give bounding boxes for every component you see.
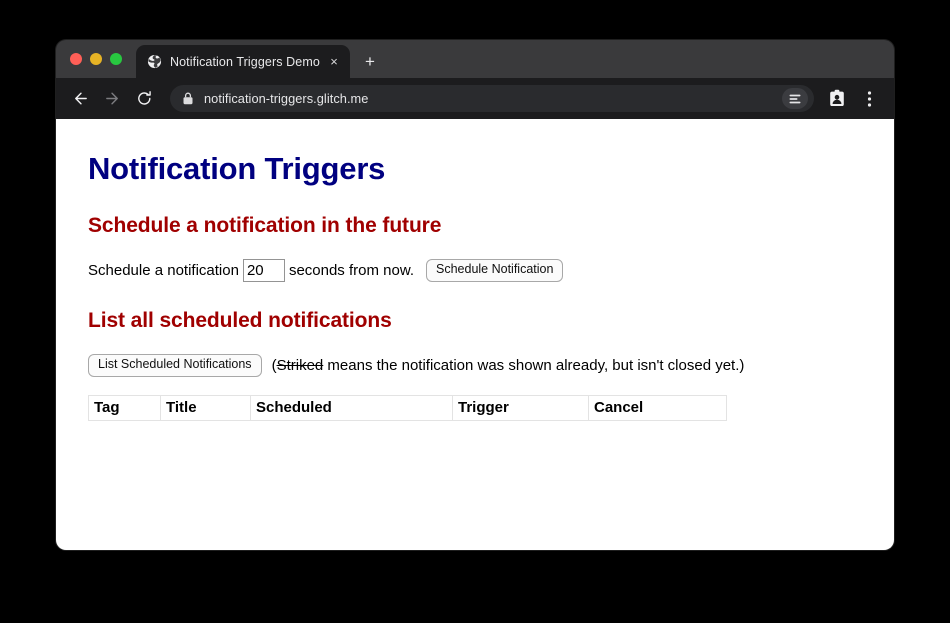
column-header-title: Title (161, 395, 251, 420)
tab-title: Notification Triggers Demo (170, 55, 320, 69)
list-scheduled-notifications-button[interactable]: List Scheduled Notifications (88, 354, 262, 377)
window-controls (70, 53, 122, 65)
close-window-button[interactable] (70, 53, 82, 65)
reload-button[interactable] (130, 85, 158, 113)
address-bar[interactable]: notification-triggers.glitch.me (170, 85, 814, 112)
minimize-window-button[interactable] (90, 53, 102, 65)
page-title: Notification Triggers (88, 145, 862, 187)
schedule-row: Schedule a notification seconds from now… (88, 259, 862, 282)
lock-icon (182, 92, 194, 105)
reading-list-icon[interactable] (782, 88, 808, 109)
close-icon[interactable]: × (326, 54, 342, 70)
scheduled-notifications-table: Tag Title Scheduled Trigger Cancel (88, 395, 727, 421)
maximize-window-button[interactable] (110, 53, 122, 65)
hint-rest: means the notification was shown already… (323, 357, 744, 374)
page-content: Notification Triggers Schedule a notific… (56, 119, 894, 550)
striked-hint: (Striked means the notification was show… (272, 357, 745, 374)
schedule-text-after: seconds from now. (289, 262, 414, 279)
new-tab-button[interactable]: + (360, 52, 380, 72)
seconds-input[interactable] (243, 259, 285, 282)
list-row: List Scheduled Notifications (Striked me… (88, 354, 862, 377)
schedule-notification-button[interactable]: Schedule Notification (426, 259, 563, 282)
globe-icon (147, 54, 162, 69)
column-header-cancel: Cancel (589, 395, 727, 420)
three-dot-menu-icon[interactable] (856, 86, 882, 112)
tab-strip: Notification Triggers Demo × + (56, 40, 894, 78)
schedule-text-before: Schedule a notification (88, 262, 239, 279)
schedule-button-wrapper: Schedule Notification (426, 259, 563, 282)
screen: Notification Triggers Demo × + (0, 0, 950, 623)
list-button-wrapper: List Scheduled Notifications (88, 354, 262, 377)
forward-arrow-icon (104, 90, 121, 107)
browser-toolbar: notification-triggers.glitch.me (56, 78, 894, 119)
back-arrow-icon (72, 90, 89, 107)
table-header-row: Tag Title Scheduled Trigger Cancel (89, 395, 727, 420)
tab-notification-triggers-demo[interactable]: Notification Triggers Demo × (136, 45, 350, 78)
list-section-heading: List all scheduled notifications (88, 309, 862, 333)
address-bar-url: notification-triggers.glitch.me (204, 91, 782, 106)
forward-button[interactable] (98, 85, 126, 113)
back-button[interactable] (66, 85, 94, 113)
schedule-section-heading: Schedule a notification in the future (88, 214, 862, 238)
column-header-tag: Tag (89, 395, 161, 420)
column-header-trigger: Trigger (453, 395, 589, 420)
profile-card-icon[interactable] (824, 86, 850, 112)
column-header-scheduled: Scheduled (251, 395, 453, 420)
hint-striked-word: Striked (277, 357, 324, 374)
reload-icon (136, 90, 153, 107)
browser-window: Notification Triggers Demo × + (56, 40, 894, 550)
